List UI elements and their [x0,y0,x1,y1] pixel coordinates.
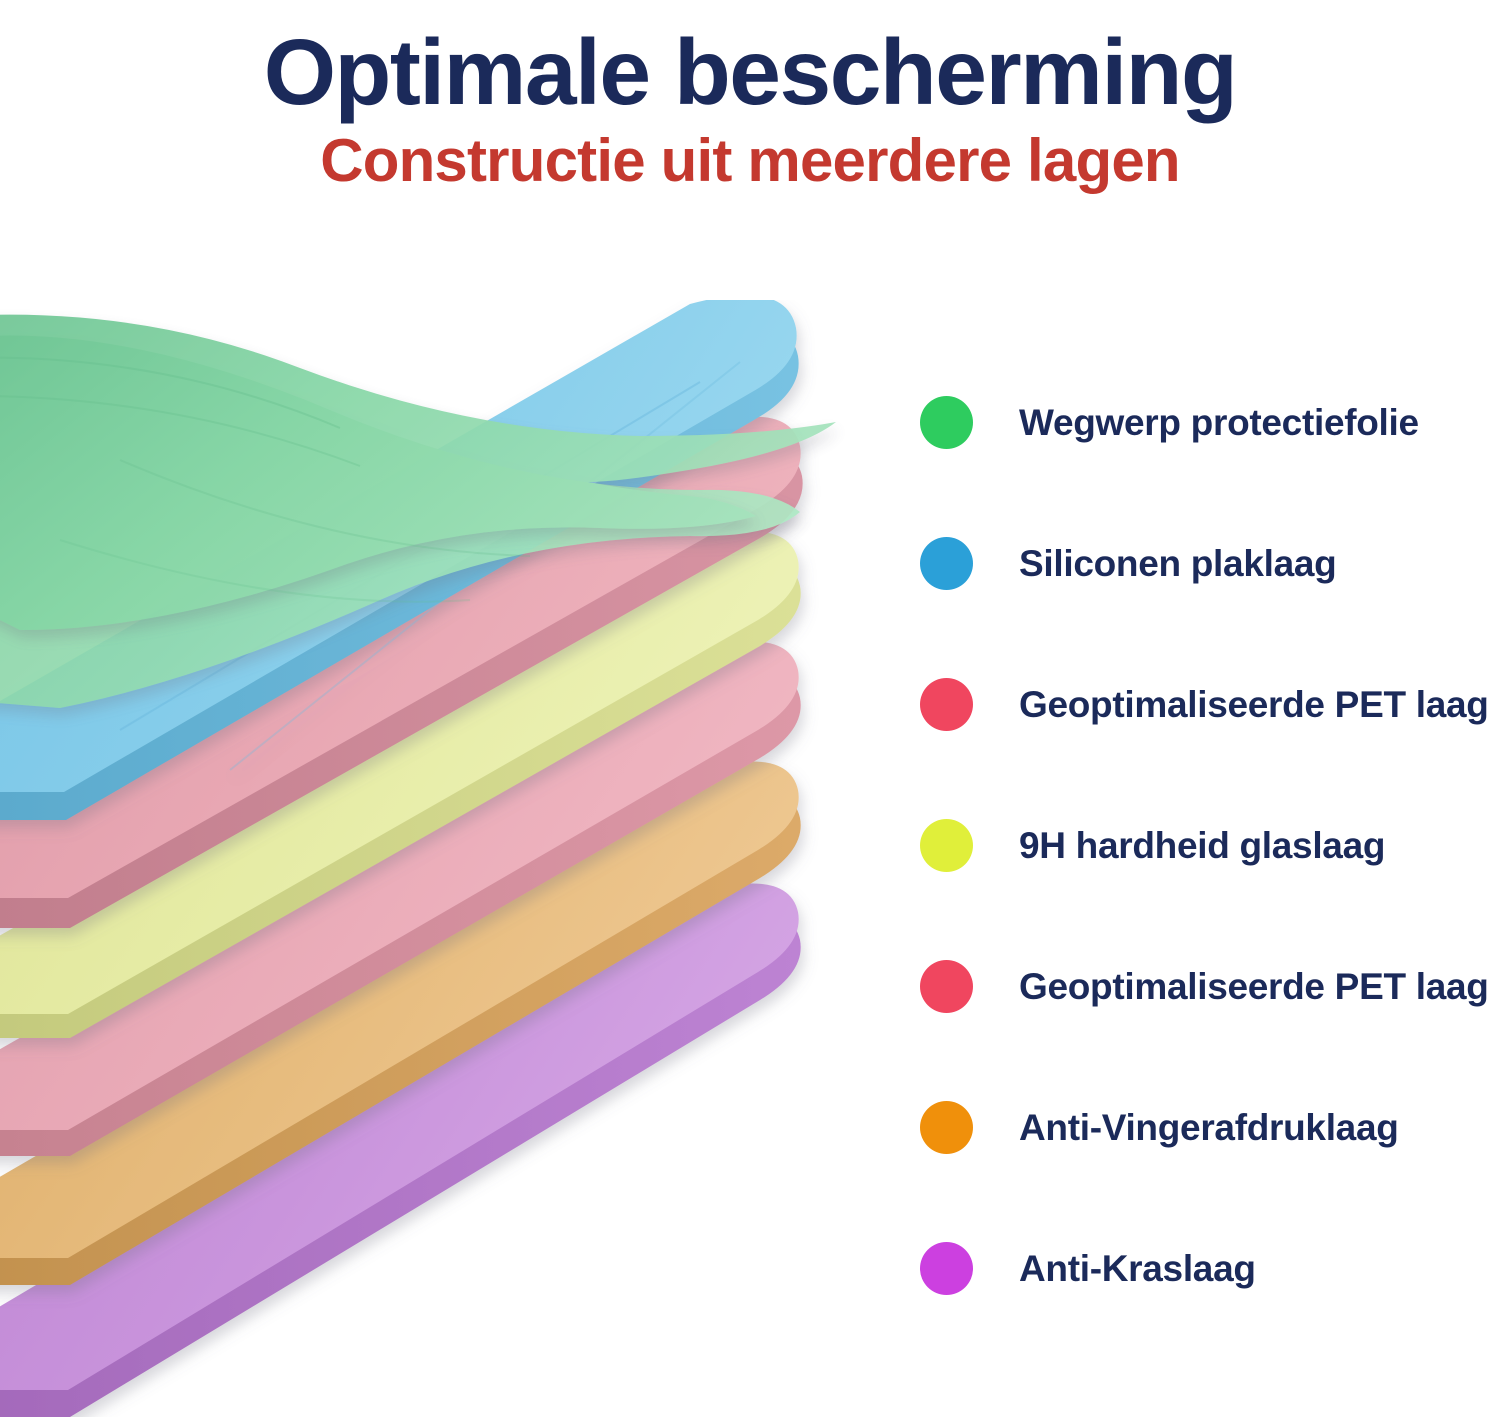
legend-item-label: Anti-Kraslaag [1019,1248,1256,1290]
legend-dot-icon [920,1242,973,1295]
legend-dot-icon [920,1101,973,1154]
page-header: Optimale bescherming Constructie uit mee… [0,0,1500,194]
legend-item-label: Anti-Vingerafdruklaag [1019,1107,1399,1149]
legend-dot-icon [920,396,973,449]
layer-legend: Wegwerp protectiefolie Siliconen plaklaa… [920,352,1500,1339]
legend-item-9h-hardheid-glaslaag[interactable]: 9H hardheid glaslaag [920,775,1500,916]
legend-item-anti-kraslaag[interactable]: Anti-Kraslaag [920,1198,1500,1339]
legend-dot-icon [920,678,973,731]
legend-item-label: Geoptimaliseerde PET laag [1019,966,1489,1008]
layer-stack-illustration [0,300,860,1417]
legend-item-wegwerp-protectiefolie[interactable]: Wegwerp protectiefolie [920,352,1500,493]
legend-item-pet-laag-2[interactable]: Geoptimaliseerde PET laag [920,916,1500,1057]
page-title: Optimale bescherming [0,22,1500,122]
legend-dot-icon [920,537,973,590]
legend-item-anti-vingerafdruklaag[interactable]: Anti-Vingerafdruklaag [920,1057,1500,1198]
legend-dot-icon [920,819,973,872]
legend-item-label: Siliconen plaklaag [1019,543,1336,585]
legend-item-pet-laag-1[interactable]: Geoptimaliseerde PET laag [920,634,1500,775]
legend-item-label: Wegwerp protectiefolie [1019,402,1419,444]
legend-item-siliconen-plaklaag[interactable]: Siliconen plaklaag [920,493,1500,634]
legend-dot-icon [920,960,973,1013]
legend-item-label: 9H hardheid glaslaag [1019,825,1385,867]
infographic-page: Optimale bescherming Constructie uit mee… [0,0,1500,1417]
page-subtitle: Constructie uit meerdere lagen [0,128,1500,194]
legend-item-label: Geoptimaliseerde PET laag [1019,684,1489,726]
